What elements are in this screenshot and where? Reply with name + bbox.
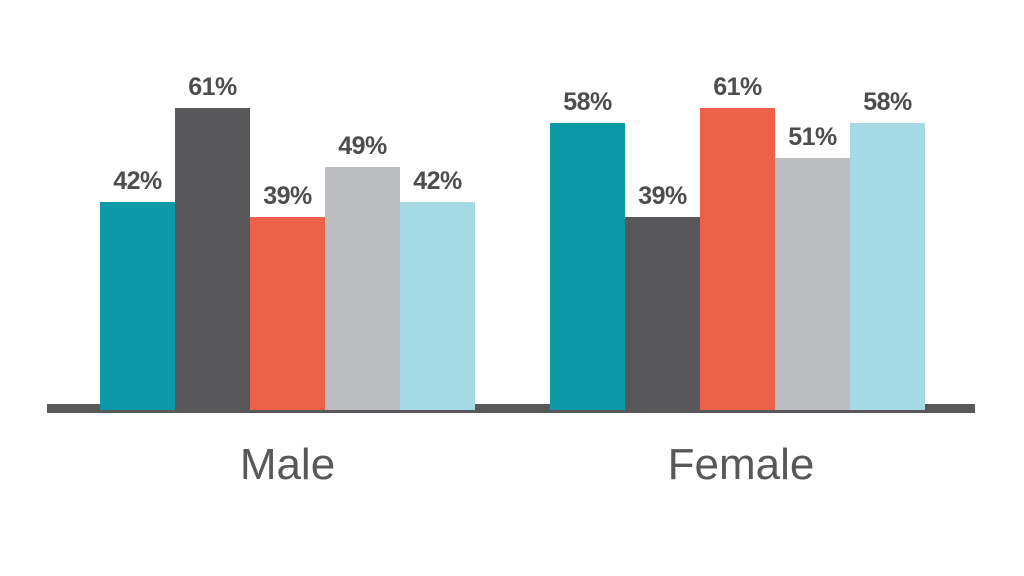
bar-male-series-1[interactable]: 42% (100, 202, 175, 410)
bar-rect (625, 217, 700, 410)
bar-value-label: 49% (338, 132, 387, 161)
bar-value-label: 42% (113, 167, 162, 196)
category-label-male: Male (100, 440, 475, 490)
bar-value-label: 42% (413, 167, 462, 196)
category-label-female: Female (550, 440, 932, 490)
bar-female-series-5[interactable]: 58% (850, 123, 925, 410)
bar-value-label: 39% (263, 182, 312, 211)
bar-chart: 42% 61% 39% 49% 42% 58% 39% 61% (0, 0, 1024, 576)
bar-rect (400, 202, 475, 410)
bar-rect (550, 123, 625, 410)
bar-rect (175, 108, 250, 410)
bar-value-label: 51% (788, 123, 837, 152)
bar-value-label: 58% (863, 88, 912, 117)
bar-value-label: 58% (563, 88, 612, 117)
bar-male-series-3[interactable]: 39% (250, 217, 325, 410)
bar-rect (100, 202, 175, 410)
bar-male-series-5[interactable]: 42% (400, 202, 475, 410)
bar-value-label: 39% (638, 182, 687, 211)
bar-rect (250, 217, 325, 410)
bar-male-series-4[interactable]: 49% (325, 167, 400, 410)
bar-value-label: 61% (188, 73, 237, 102)
bar-female-series-3[interactable]: 61% (700, 108, 775, 410)
plot-area: 42% 61% 39% 49% 42% 58% 39% 61% (0, 0, 1024, 576)
bar-female-series-2[interactable]: 39% (625, 217, 700, 410)
bar-rect (775, 158, 850, 410)
bar-rect (325, 167, 400, 410)
bar-male-series-2[interactable]: 61% (175, 108, 250, 410)
bar-female-series-4[interactable]: 51% (775, 158, 850, 410)
bar-value-label: 61% (713, 73, 762, 102)
bar-female-series-1[interactable]: 58% (550, 123, 625, 410)
bar-rect (700, 108, 775, 410)
bar-rect (850, 123, 925, 410)
